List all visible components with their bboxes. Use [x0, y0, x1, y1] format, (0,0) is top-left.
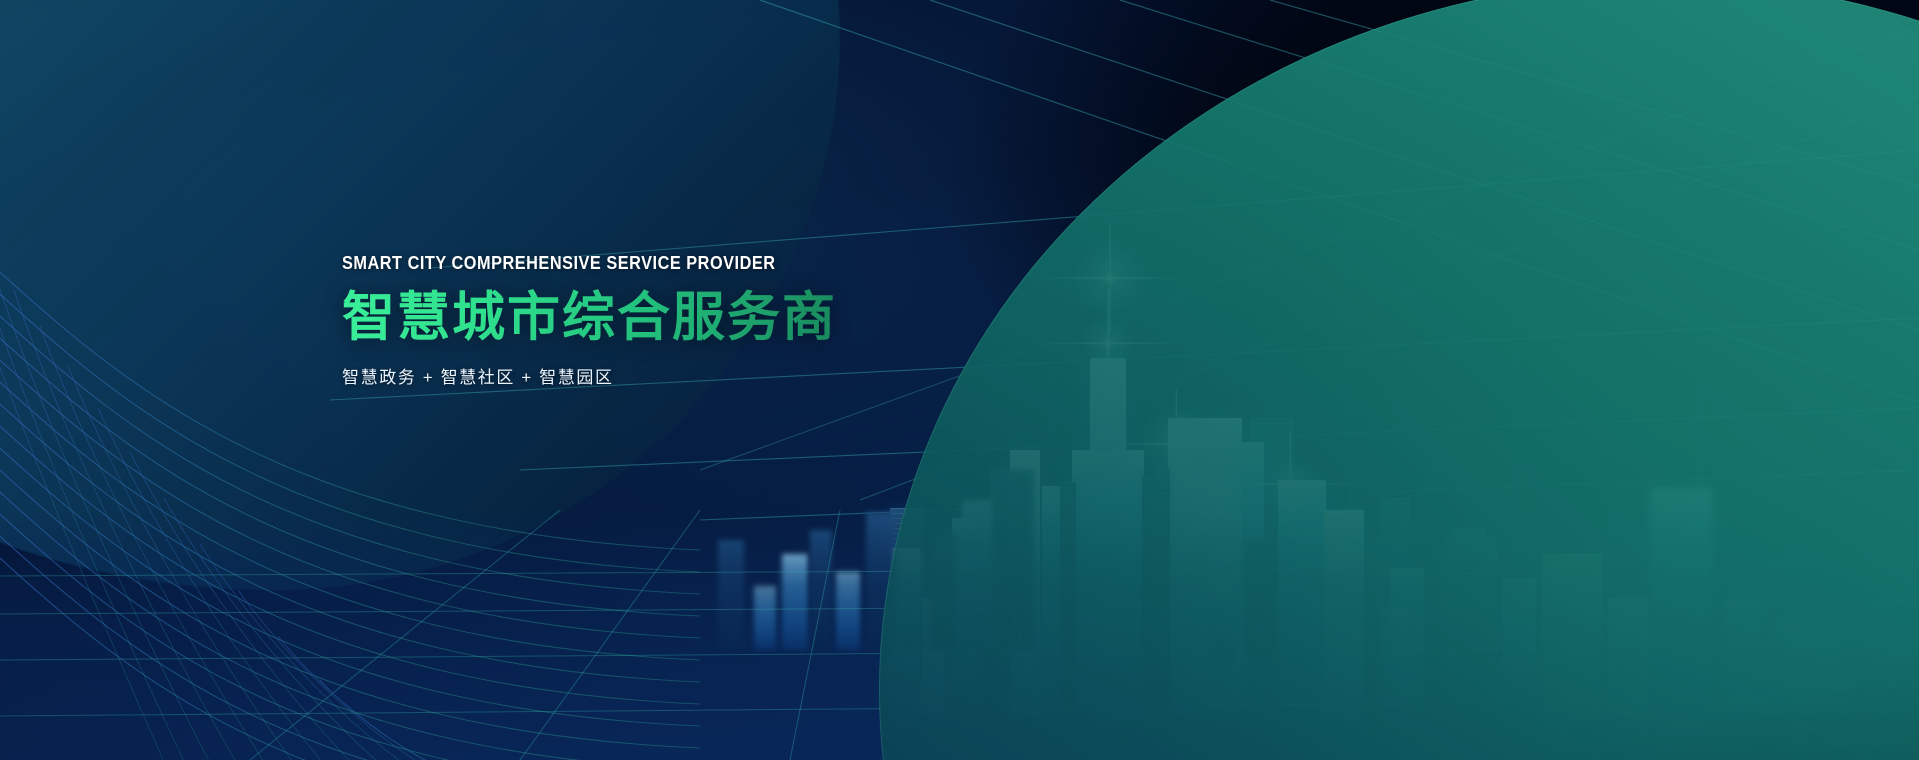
hero-copy: SMART CITY COMPREHENSIVE SERVICE PROVIDE…	[342, 252, 837, 388]
page-title: 智慧城市综合服务商	[342, 288, 837, 347]
eyebrow-text: SMART CITY COMPREHENSIVE SERVICE PROVIDE…	[342, 252, 778, 274]
hero-banner: SMART CITY COMPREHENSIVE SERVICE PROVIDE…	[0, 0, 1919, 760]
subtitle-text: 智慧政务 + 智慧社区 + 智慧园区	[342, 363, 837, 388]
